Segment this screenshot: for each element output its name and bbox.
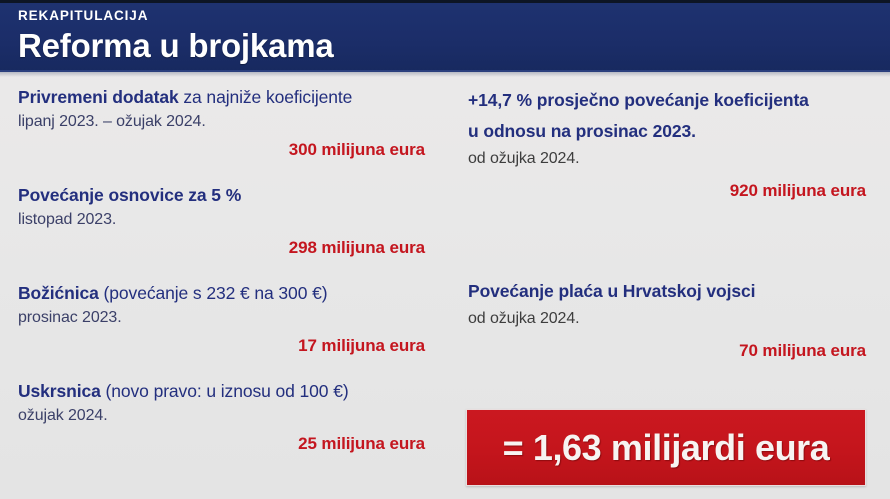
- measure-highlight-percent: +14,7 %: [468, 90, 532, 110]
- measure-amount: 25 milijuna eura: [18, 433, 428, 455]
- measure-title: Uskrsnica (novo pravo: u iznosu od 100 €…: [18, 379, 428, 404]
- measure-amount: 298 milijuna eura: [18, 237, 428, 259]
- measure-amount: 300 milijuna eura: [18, 139, 428, 161]
- banner-kicker: REKAPITULACIJA: [18, 8, 890, 24]
- measure-title-strong: Povećanje osnovice za 5 %: [18, 185, 241, 205]
- measure-title-rest: (povećanje s 232 € na 300 €): [99, 283, 328, 303]
- measure-title: Povećanje osnovice za 5 %: [18, 183, 428, 208]
- banner-shadow: [0, 72, 890, 77]
- measure-item-koeficijent-povecanje: +14,7 % prosječno povećanje koeficijenta…: [468, 85, 868, 202]
- measure-title-strong: Božićnica: [18, 283, 99, 303]
- measure-amount: 920 milijuna eura: [468, 180, 868, 202]
- header-banner: REKAPITULACIJA Reforma u brojkama: [0, 3, 890, 72]
- measure-period: lipanj 2023. – ožujak 2024.: [18, 110, 428, 133]
- measure-amount: 70 milijuna eura: [468, 340, 868, 362]
- measure-period: prosinac 2023.: [18, 306, 428, 329]
- total-sum-box: = 1,63 milijardi eura: [466, 409, 866, 486]
- measure-item-uskrsnica: Uskrsnica (novo pravo: u iznosu od 100 €…: [18, 379, 428, 455]
- measure-title: Povećanje plaća u Hrvatskoj vojsci: [468, 276, 868, 307]
- measure-period: od ožujka 2024.: [468, 307, 868, 330]
- measure-item-privremeni-dodatak: Privremeni dodatak za najniže koeficijen…: [18, 85, 428, 161]
- measure-title-strong: Uskrsnica: [18, 381, 101, 401]
- measure-title: Privremeni dodatak za najniže koeficijen…: [18, 85, 428, 110]
- measure-period: ožujak 2024.: [18, 404, 428, 427]
- slide-root: REKAPITULACIJA Reforma u brojkama Privre…: [0, 0, 890, 499]
- measure-title: Božićnica (povećanje s 232 € na 300 €): [18, 281, 428, 306]
- measure-item-bozicnica: Božićnica (povećanje s 232 € na 300 €) p…: [18, 281, 428, 357]
- measure-item-povecanje-osnovice: Povećanje osnovice za 5 % listopad 2023.…: [18, 183, 428, 259]
- total-sum-text: = 1,63 milijardi eura: [503, 427, 830, 469]
- measure-item-hrvatska-vojska: Povećanje plaća u Hrvatskoj vojsci od ož…: [468, 276, 868, 362]
- measure-title-line1: prosječno povećanje koeficijenta: [532, 90, 809, 110]
- measure-period: listopad 2023.: [18, 208, 428, 231]
- measure-title-rest: (novo pravo: u iznosu od 100 €): [101, 381, 349, 401]
- measure-title-line2: u odnosu na prosinac 2023.: [468, 116, 868, 147]
- left-column: Privremeni dodatak za najniže koeficijen…: [18, 85, 428, 455]
- measure-title-rest: za najniže koeficijente: [179, 87, 353, 107]
- page-title: Reforma u brojkama: [18, 25, 890, 67]
- measure-title-strong: Privremeni dodatak: [18, 87, 179, 107]
- measure-title: +14,7 % prosječno povećanje koeficijenta: [468, 85, 868, 116]
- right-column: +14,7 % prosječno povećanje koeficijenta…: [468, 85, 868, 362]
- measure-period: od ožujka 2024.: [468, 147, 868, 170]
- measure-amount: 17 milijuna eura: [18, 335, 428, 357]
